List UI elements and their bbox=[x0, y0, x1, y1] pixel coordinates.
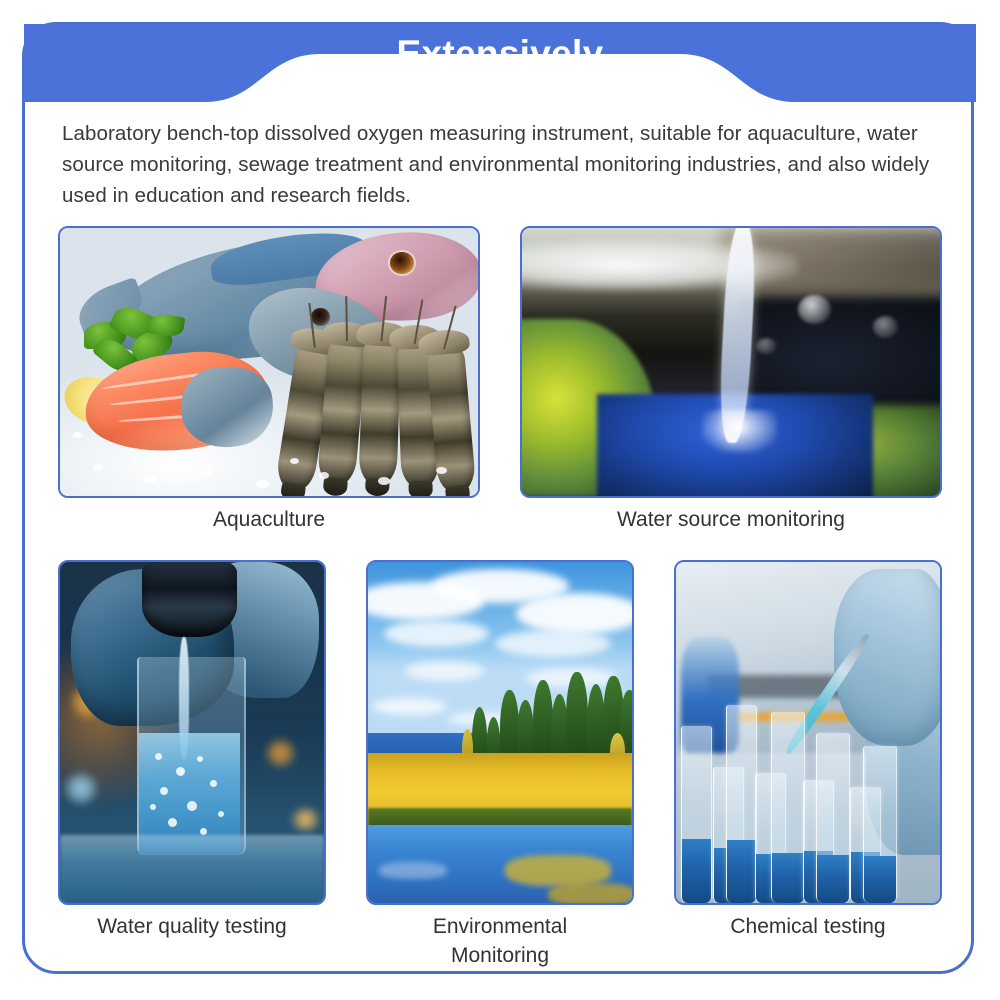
wet-table-surface bbox=[60, 835, 324, 903]
feature-card-environmental[interactable]: Environmental Monitoring bbox=[366, 560, 634, 970]
page-title: Extensively bbox=[0, 33, 1000, 75]
water-stream-illustration bbox=[522, 228, 940, 496]
landscape-illustration bbox=[368, 562, 632, 903]
feature-card-chemical[interactable]: Chemical testing bbox=[674, 560, 942, 941]
aquaculture-caption: Aquaculture bbox=[58, 505, 480, 534]
bottle-cap bbox=[142, 562, 237, 637]
chemical-testing-thumbnail[interactable] bbox=[674, 560, 942, 905]
shrimp bbox=[358, 335, 401, 486]
feature-card-water-source[interactable]: Water source monitoring bbox=[520, 226, 942, 534]
beaker-illustration bbox=[60, 562, 324, 903]
environmental-caption: Environmental Monitoring bbox=[366, 912, 634, 970]
chemical-testing-caption: Chemical testing bbox=[674, 912, 942, 941]
fish-eye-small-icon bbox=[311, 308, 330, 325]
environmental-caption-line1: Environmental bbox=[433, 915, 567, 938]
water-splash bbox=[702, 410, 777, 453]
product-feature-page: Extensively Laboratory bench-top dissolv… bbox=[0, 0, 1000, 1000]
test-tube bbox=[771, 712, 805, 903]
test-tube bbox=[816, 733, 850, 904]
test-tube bbox=[681, 726, 712, 903]
water-quality-thumbnail[interactable] bbox=[58, 560, 326, 905]
bottom-image-row: Water quality testing bbox=[58, 560, 942, 960]
white-highlight bbox=[520, 239, 798, 293]
fish-on-ice-illustration bbox=[60, 228, 478, 496]
water-source-thumbnail[interactable] bbox=[520, 226, 942, 498]
water-quality-caption: Water quality testing bbox=[58, 912, 326, 941]
test-tube bbox=[726, 705, 757, 903]
description-text: Laboratory bench-top dissolved oxygen me… bbox=[62, 118, 950, 211]
feature-card-water-quality[interactable]: Water quality testing bbox=[58, 560, 326, 941]
environmental-thumbnail[interactable] bbox=[366, 560, 634, 905]
top-image-row: Aquaculture Water source bbox=[58, 226, 942, 536]
test-tubes-illustration bbox=[676, 562, 940, 903]
aquaculture-thumbnail[interactable] bbox=[58, 226, 480, 498]
environmental-caption-line2: Monitoring bbox=[451, 944, 549, 967]
feature-card-aquaculture[interactable]: Aquaculture bbox=[58, 226, 480, 534]
water-source-caption: Water source monitoring bbox=[520, 505, 942, 534]
test-tube bbox=[863, 746, 897, 903]
fish-eye-icon bbox=[390, 252, 413, 273]
